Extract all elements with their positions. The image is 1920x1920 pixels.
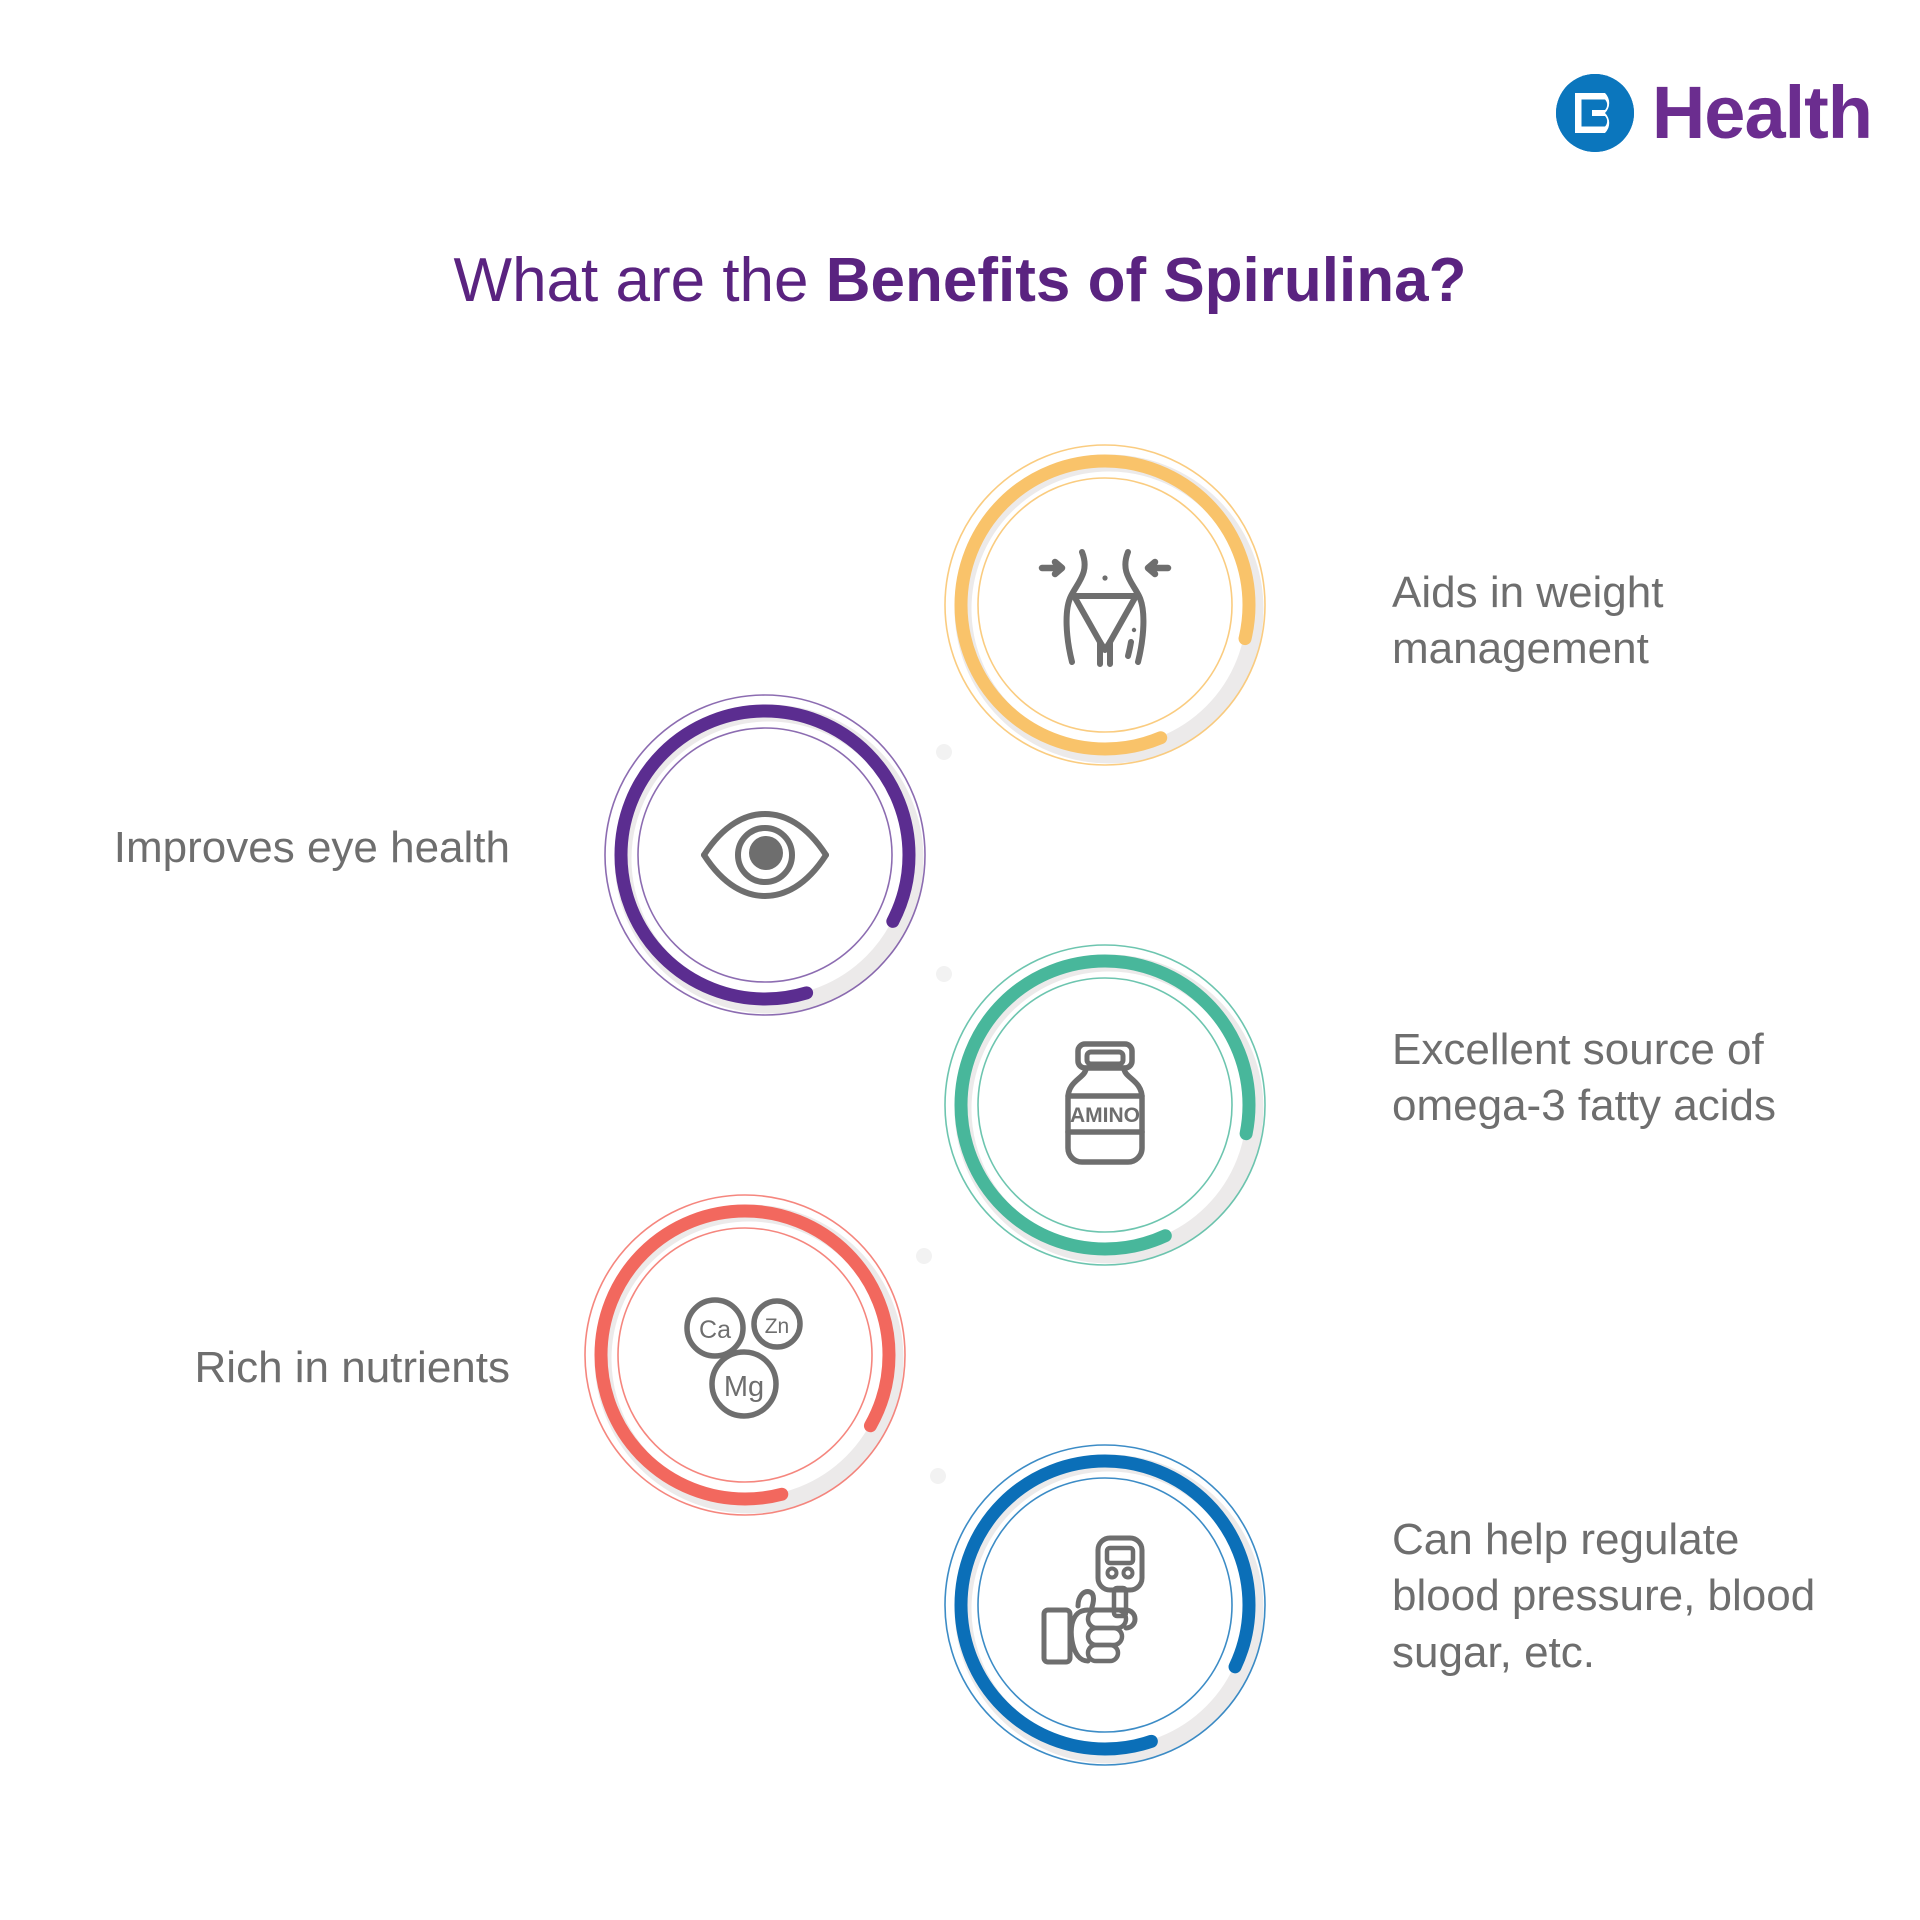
amino-bottle-icon: AMINO bbox=[1020, 1020, 1190, 1190]
benefit-node-nutrients[interactable]: Ca Zn Mg bbox=[570, 1180, 920, 1530]
waist-measure-icon bbox=[1020, 520, 1190, 690]
benefit-node-omega[interactable]: AMINO bbox=[930, 930, 1280, 1280]
benefit-label-eye: Improves eye health bbox=[110, 820, 510, 876]
glucometer-thumb-icon bbox=[1020, 1520, 1190, 1690]
benefits-diagram: AMINO Ca Zn Mg bbox=[0, 0, 1920, 1920]
eye-icon bbox=[680, 770, 850, 940]
benefit-label-nutrients: Rich in nutrients bbox=[80, 1340, 510, 1396]
benefit-node-blood-pressure[interactable] bbox=[930, 1430, 1280, 1780]
benefit-label-omega: Excellent source of omega-3 fatty acids bbox=[1392, 1022, 1812, 1135]
amino-bottle-label: AMINO bbox=[1070, 1104, 1140, 1127]
infographic-page: Health What are the Benefits of Spirulin… bbox=[0, 0, 1920, 1920]
mineral-mg-label: Mg bbox=[724, 1371, 764, 1403]
benefit-label-blood-pressure: Can help regulate blood pressure, blood … bbox=[1392, 1512, 1832, 1681]
benefit-node-eye[interactable] bbox=[590, 680, 940, 1030]
mineral-zn-label: Zn bbox=[765, 1315, 790, 1338]
mineral-ca-label: Ca bbox=[699, 1316, 731, 1344]
benefit-label-weight: Aids in weight management bbox=[1392, 565, 1812, 678]
minerals-icon: Ca Zn Mg bbox=[660, 1270, 830, 1440]
benefit-node-weight[interactable] bbox=[930, 430, 1280, 780]
